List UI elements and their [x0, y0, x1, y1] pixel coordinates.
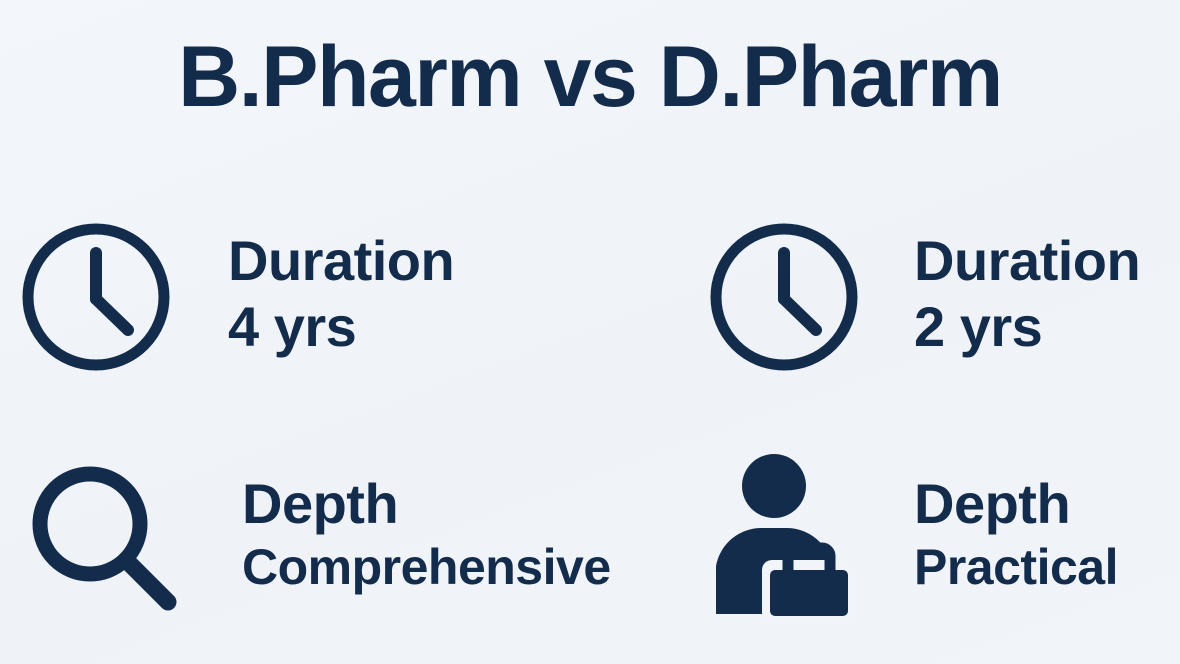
metric-label: Depth [242, 474, 611, 533]
person-briefcase-icon [706, 452, 866, 622]
card-text: Depth Practical [914, 474, 1118, 599]
magnifier-icon [18, 452, 188, 622]
card-text: Depth Comprehensive [242, 474, 611, 599]
card-dpharm-depth: Depth Practical [706, 452, 1180, 622]
metric-value: 2 yrs [914, 291, 1140, 363]
metric-value: 4 yrs [228, 291, 454, 363]
card-text: Duration 4 yrs [228, 231, 454, 362]
clock-icon [706, 219, 862, 375]
card-bpharm-duration: Duration 4 yrs [18, 212, 578, 382]
metric-value: Practical [914, 534, 1118, 600]
metric-label: Duration [228, 231, 454, 290]
card-text: Duration 2 yrs [914, 231, 1140, 362]
card-dpharm-duration: Duration 2 yrs [706, 212, 1180, 382]
page-title: B.Pharm vs D.Pharm [0, 34, 1180, 120]
infographic-canvas: B.Pharm vs D.Pharm Duration 4 yrs Durati… [0, 0, 1180, 664]
metric-label: Duration [914, 231, 1140, 290]
metric-label: Depth [914, 474, 1118, 533]
metric-value: Comprehensive [242, 534, 611, 600]
clock-icon [18, 219, 174, 375]
card-bpharm-depth: Depth Comprehensive [18, 452, 618, 622]
